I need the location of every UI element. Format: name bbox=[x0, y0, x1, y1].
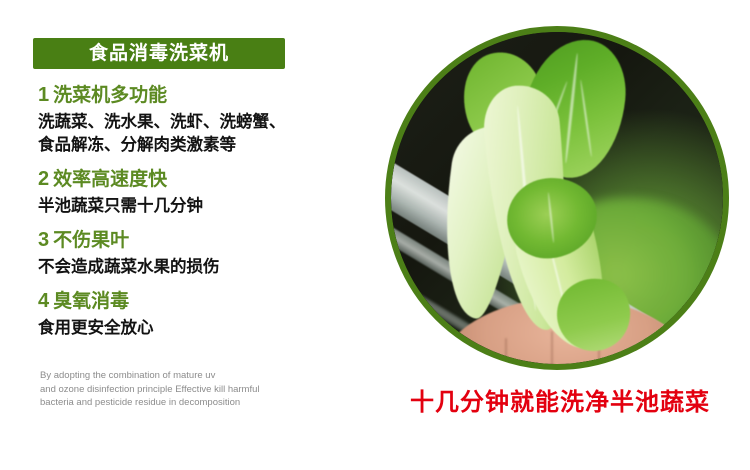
feature-title-3: 不伤果叶 bbox=[53, 230, 129, 251]
feature-heading-4: 4臭氧消毒 bbox=[38, 288, 368, 315]
feature-body-3: 不会造成蔬菜水果的损伤 bbox=[38, 256, 368, 279]
product-photo-circle bbox=[385, 26, 729, 370]
feature-body-2-line-1: 半池蔬菜只需十几分钟 bbox=[38, 195, 368, 218]
feature-title-2: 效率高速度快 bbox=[53, 169, 167, 190]
page-title: 食品消毒洗菜机 bbox=[33, 38, 285, 69]
feature-body-1-line-1: 洗蔬菜、洗水果、洗虾、洗螃蟹、 bbox=[38, 111, 368, 134]
feature-heading-3: 3不伤果叶 bbox=[38, 227, 368, 254]
feature-body-3-line-1: 不会造成蔬菜水果的损伤 bbox=[38, 256, 368, 279]
title-banner: 食品消毒洗菜机 bbox=[33, 38, 285, 69]
feature-body-1-line-2: 食品解冻、分解肉类激素等 bbox=[38, 134, 368, 157]
feature-number-2: 2 bbox=[38, 168, 49, 190]
fine-print-line-1: By adopting the combination of mature uv bbox=[40, 369, 340, 383]
feature-number-4: 4 bbox=[38, 290, 49, 312]
fine-print-line-2: and ozone disinfection principle Effecti… bbox=[40, 383, 340, 397]
fine-print-text: By adopting the combination of mature uv… bbox=[40, 369, 340, 410]
feature-number-3: 3 bbox=[38, 229, 49, 251]
feature-list: 1洗菜机多功能 洗蔬菜、洗水果、洗虾、洗螃蟹、 食品解冻、分解肉类激素等 2效率… bbox=[38, 82, 368, 349]
red-caption: 十几分钟就能洗净半池蔬菜 bbox=[390, 382, 730, 417]
feature-number-1: 1 bbox=[38, 84, 49, 106]
feature-body-4-line-1: 食用更安全放心 bbox=[38, 317, 368, 340]
feature-item-4: 4臭氧消毒 食用更安全放心 bbox=[38, 288, 368, 340]
feature-heading-1: 1洗菜机多功能 bbox=[38, 82, 368, 109]
feature-item-3: 3不伤果叶 不会造成蔬菜水果的损伤 bbox=[38, 227, 368, 279]
feature-body-2: 半池蔬菜只需十几分钟 bbox=[38, 195, 368, 218]
feature-item-2: 2效率高速度快 半池蔬菜只需十几分钟 bbox=[38, 166, 368, 218]
feature-title-1: 洗菜机多功能 bbox=[53, 85, 167, 106]
feature-item-1: 1洗菜机多功能 洗蔬菜、洗水果、洗虾、洗螃蟹、 食品解冻、分解肉类激素等 bbox=[38, 82, 368, 157]
feature-body-1: 洗蔬菜、洗水果、洗虾、洗螃蟹、 食品解冻、分解肉类激素等 bbox=[38, 111, 368, 157]
left-content-panel: 食品消毒洗菜机 1洗菜机多功能 洗蔬菜、洗水果、洗虾、洗螃蟹、 食品解冻、分解肉… bbox=[0, 0, 390, 470]
feature-heading-2: 2效率高速度快 bbox=[38, 166, 368, 193]
product-photo-image bbox=[391, 32, 723, 364]
fine-print-line-3: bacteria and pesticide residue in decomp… bbox=[40, 396, 340, 410]
feature-body-4: 食用更安全放心 bbox=[38, 317, 368, 340]
feature-title-4: 臭氧消毒 bbox=[53, 291, 129, 312]
